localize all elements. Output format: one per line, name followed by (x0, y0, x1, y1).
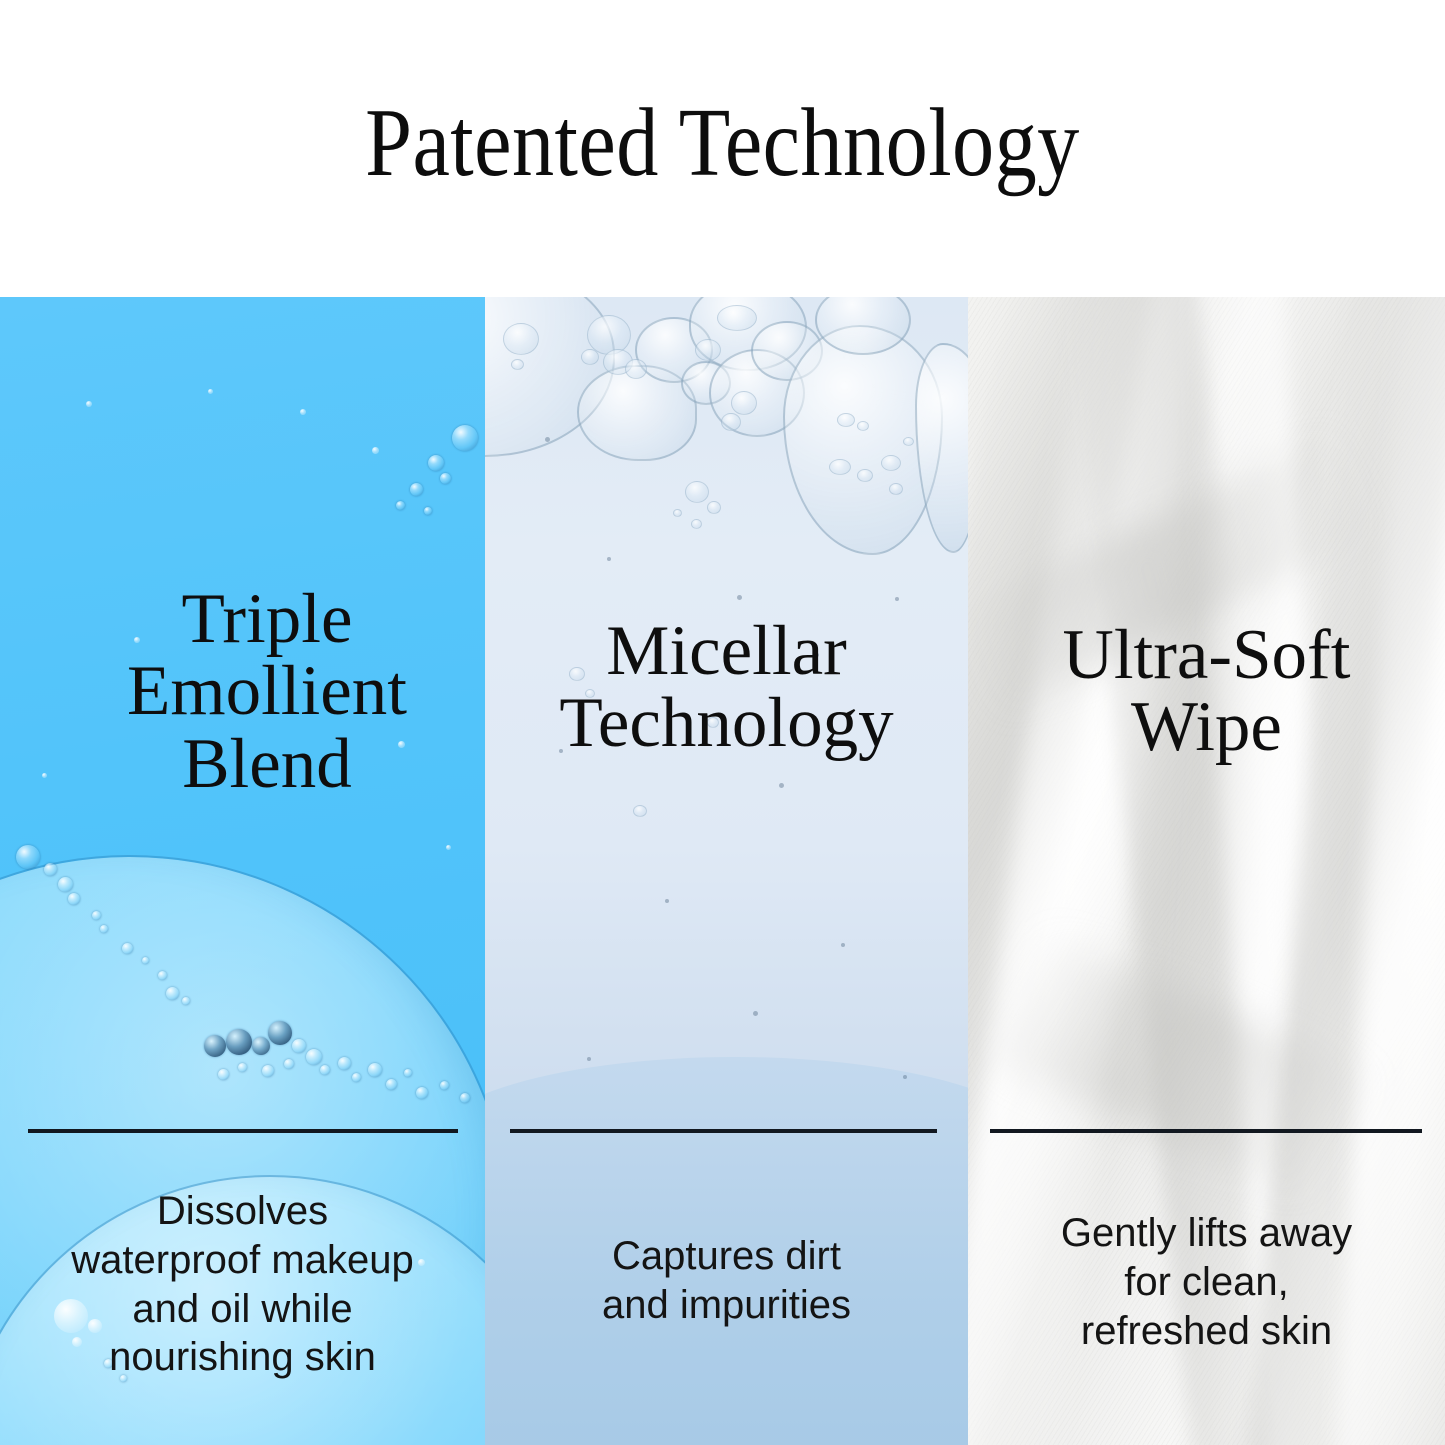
water-bubble-icon (695, 339, 721, 361)
panel-1-heading-line-3: Blend (127, 728, 407, 800)
panel-micellar-technology: Micellar Technology Captures dirt and im… (485, 297, 968, 1445)
speck-icon (545, 437, 550, 442)
panel-ultra-soft-wipe: Ultra-Soft Wipe Gently lifts away for cl… (968, 297, 1445, 1445)
header-banner: Patented Technology (0, 0, 1445, 297)
panel-3-heading-line-2: Wipe (968, 691, 1445, 763)
bubble-icon (204, 1035, 226, 1057)
bubble-icon (428, 455, 444, 471)
bubble-icon (368, 1063, 382, 1077)
bubble-icon (218, 1069, 229, 1080)
water-bubble-icon (889, 483, 903, 495)
panel-1-body-line-2: waterproof makeup (14, 1236, 471, 1285)
page-title: Patented Technology (365, 94, 1080, 204)
panel-1-body-line-3: and oil while (14, 1285, 471, 1334)
bubble-icon (158, 971, 167, 980)
panel-3-body-line-3: refreshed skin (994, 1307, 1419, 1356)
bubble-icon (352, 1073, 361, 1082)
bubble-icon (58, 877, 73, 892)
panel-3-heading: Ultra-Soft Wipe (968, 619, 1445, 764)
bubble-icon (284, 1059, 294, 1069)
panel-triple-emollient-blend: Triple Emollient Blend Dissolves waterpr… (0, 297, 485, 1445)
water-bubble-icon (503, 323, 539, 355)
speck-icon (587, 1057, 591, 1061)
speck-icon (737, 595, 742, 600)
panel-1-body-line-1: Dissolves (14, 1187, 471, 1236)
speck-icon (779, 783, 784, 788)
panel-2-heading-line-2: Technology (485, 687, 968, 759)
panel-1-body-text: Dissolves waterproof makeup and oil whil… (0, 1187, 485, 1382)
bubble-icon (404, 1069, 412, 1077)
water-bubble-icon (829, 459, 851, 475)
bubble-icon (44, 863, 57, 876)
water-bubble-icon (625, 359, 647, 379)
speck-icon (753, 1011, 758, 1016)
panel-1-body-line-4: nourishing skin (14, 1333, 471, 1382)
bubble-icon (100, 925, 108, 933)
speck-icon (607, 557, 611, 561)
water-bubble-icon (673, 509, 682, 517)
bubble-icon (338, 1057, 351, 1070)
bubble-icon (166, 987, 179, 1000)
bubble-icon (416, 1087, 428, 1099)
water-bubble-icon (881, 455, 901, 471)
bubble-icon (386, 1079, 397, 1090)
water-bubble-icon (633, 805, 647, 817)
bubble-icon (86, 401, 92, 407)
speck-icon (903, 1075, 907, 1079)
panel-1-heading-line-1: Triple (127, 583, 407, 655)
water-bubble-icon (903, 437, 914, 446)
bubble-icon (440, 1081, 449, 1090)
water-bubble-icon (837, 413, 855, 427)
bubble-icon (142, 957, 149, 964)
bubble-icon (446, 845, 451, 850)
bubble-icon (396, 501, 405, 510)
panel-3-body-text: Gently lifts away for clean, refreshed s… (968, 1209, 1445, 1355)
panel-3-body-line-1: Gently lifts away (994, 1209, 1419, 1258)
bubble-icon (16, 845, 40, 869)
water-bubble-icon (511, 359, 524, 370)
bubble-icon (306, 1049, 322, 1065)
water-bubble-icon (707, 501, 721, 514)
bubble-icon (440, 473, 451, 484)
bubble-icon (410, 483, 423, 496)
bubble-icon (42, 773, 47, 778)
bubble-icon (424, 507, 432, 515)
bubble-icon (452, 425, 478, 451)
panel-1-heading-line-2: Emollient (127, 655, 407, 727)
patented-technology-infographic: Patented Technology (0, 0, 1445, 1445)
panel-2-heading: Micellar Technology (485, 615, 968, 760)
panel-3-divider-rule (990, 1129, 1422, 1133)
speck-icon (841, 943, 845, 947)
water-bubble-icon (685, 481, 709, 503)
panel-3-heading-line-1: Ultra-Soft (968, 619, 1445, 691)
water-bubble-icon (581, 349, 599, 365)
bubble-icon (252, 1037, 270, 1055)
feature-panels: Triple Emollient Blend Dissolves waterpr… (0, 297, 1445, 1445)
bubble-icon (262, 1065, 274, 1077)
water-bubble-icon (731, 391, 757, 415)
bubble-icon (292, 1039, 306, 1053)
bubble-icon (122, 943, 133, 954)
bubble-icon (300, 409, 306, 415)
bubble-icon (226, 1029, 252, 1055)
panel-2-body-line-2: and impurities (509, 1281, 944, 1330)
water-bubble-icon (691, 519, 702, 529)
water-bubble-icon (857, 469, 873, 482)
panel-2-divider-rule (510, 1129, 937, 1133)
water-bubble-icon (857, 421, 869, 431)
bubble-icon (268, 1021, 292, 1045)
bubble-icon (460, 1093, 470, 1103)
bubble-icon (68, 893, 80, 905)
panel-2-heading-line-1: Micellar (485, 615, 968, 687)
bubble-icon (92, 911, 101, 920)
water-bubble-icon (721, 413, 741, 431)
bubble-icon (320, 1065, 330, 1075)
panel-1-divider-rule (28, 1129, 458, 1133)
bubble-icon (238, 1063, 247, 1072)
bubble-icon (182, 997, 190, 1005)
bubble-icon (372, 447, 379, 454)
panel-3-body-line-2: for clean, (994, 1258, 1419, 1307)
panel-1-heading: Triple Emollient Blend (127, 583, 407, 800)
speck-icon (665, 899, 669, 903)
bubble-icon (208, 389, 213, 394)
speck-icon (895, 597, 899, 601)
panel-2-body-text: Captures dirt and impurities (485, 1232, 968, 1330)
water-bubble-icon (717, 305, 757, 331)
panel-2-body-line-1: Captures dirt (509, 1232, 944, 1281)
